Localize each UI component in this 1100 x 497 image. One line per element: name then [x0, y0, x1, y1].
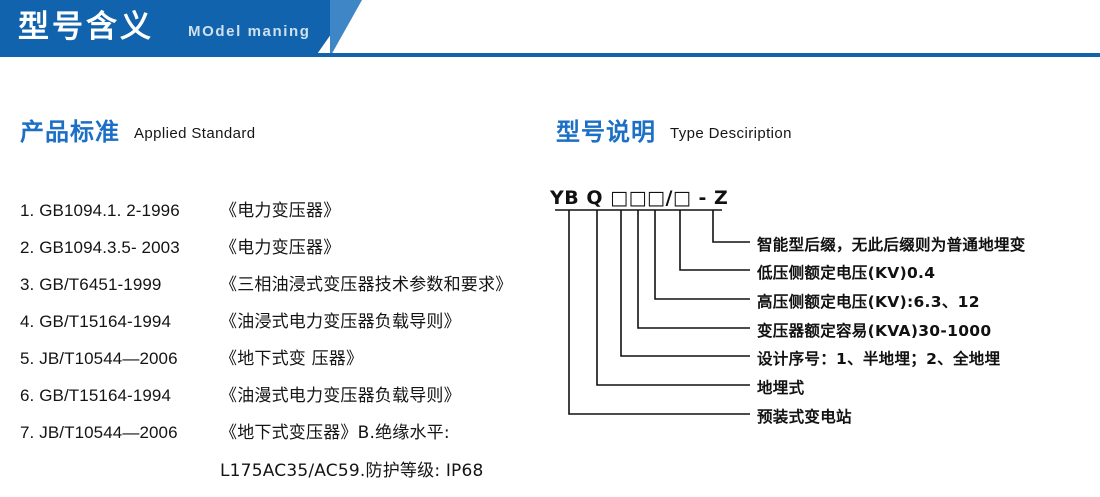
standard-name-continued: L175AC35/AC59.防护等级: IP68 [220, 461, 484, 481]
standard-index: 4. [20, 312, 34, 331]
standard-name: 《地下式变 压器》 [220, 349, 363, 369]
standard-index: 7. [20, 423, 34, 442]
standard-code: 2. GB1094.3.5- 2003 [20, 229, 220, 266]
standard-code: 7. JB/T10544—2006 [20, 414, 220, 451]
standard-list-item: 5. JB/T10544—2006《地下式变 压器》 [20, 340, 550, 377]
type-description-suffix: 智能型后缀，无此后缀则为普通地埋变 [757, 233, 1026, 255]
standard-list-item: 2. GB1094.3.5- 2003《电力变压器》 [20, 229, 550, 266]
standard-code: 5. JB/T10544—2006 [20, 340, 220, 377]
standard-code-text: GB/T15164-1994 [39, 386, 171, 405]
page-header-banner: 型号含义 MOdel maning [0, 0, 1100, 57]
standard-name: 《电力变压器》 [220, 201, 340, 221]
standard-name: 《油浸式电力变压器负载导则》 [220, 312, 461, 332]
section-heading-standard-en: Applied Standard [134, 125, 256, 142]
standard-code: 6. GB/T15164-1994 [20, 377, 220, 414]
standard-code: 3. GB/T6451-1999 [20, 266, 220, 303]
applied-standards-list: 1. GB1094.1. 2-1996《电力变压器》 2. GB1094.3.5… [20, 192, 550, 491]
standard-code: 4. GB/T15164-1994 [20, 303, 220, 340]
section-heading-type-en: Type Desciription [670, 125, 792, 142]
header-underline-rule [0, 53, 1100, 57]
standard-name: 《三相油浸式变压器技术参数和要求》 [220, 275, 512, 295]
type-designation-diagram: YB Q □□□/□ - Z 智能型后缀，无此后缀则为普通地埋变 低压侧额定电压… [550, 186, 1100, 446]
type-description-buried-type: 地埋式 [757, 376, 804, 398]
type-description-design-serial: 设计序号：1、半地埋；2、全地埋 [757, 347, 1000, 369]
header-slant-light [330, 0, 362, 57]
standard-code-text: JB/T10544—2006 [39, 423, 177, 442]
standard-list-item-continuation: L175AC35/AC59.防护等级: IP68 [20, 451, 550, 491]
section-heading-applied-standard: 产品标准Applied Standard [20, 112, 256, 147]
standard-list-item: 1. GB1094.1. 2-1996《电力变压器》 [20, 192, 550, 229]
standard-code-text: GB/T15164-1994 [39, 312, 171, 331]
standard-name: 《地下式变压器》B.绝缘水平: [220, 423, 450, 443]
standard-code-text: GB1094.3.5- 2003 [39, 238, 180, 257]
standard-index: 3. [20, 275, 34, 294]
section-heading-type-cn: 型号说明 [556, 118, 656, 146]
standard-code-text: GB/T6451-1999 [39, 275, 161, 294]
standard-code-text: GB1094.1. 2-1996 [39, 201, 180, 220]
section-heading-standard-cn: 产品标准 [20, 118, 120, 146]
standard-index: 2. [20, 238, 34, 257]
standard-list-item: 6. GB/T15164-1994《油漫式电力变压器负载导则》 [20, 377, 550, 414]
header-title-cn: 型号含义 [18, 8, 154, 47]
standard-list-item: 3. GB/T6451-1999《三相油浸式变压器技术参数和要求》 [20, 266, 550, 303]
standard-code-text: JB/T10544—2006 [39, 349, 177, 368]
standard-index: 1. [20, 201, 34, 220]
standard-name: 《油漫式电力变压器负载导则》 [220, 386, 461, 406]
type-description-labels: 智能型后缀，无此后缀则为普通地埋变 低压侧额定电压(KV)0.4 高压侧额定电压… [550, 186, 1100, 446]
header-title-en: MOdel maning [188, 22, 311, 42]
standard-name: 《电力变压器》 [220, 238, 340, 258]
type-description-hv-voltage: 高压侧额定电压(KV):6.3、12 [757, 290, 980, 312]
type-description-substation: 预装式变电站 [757, 405, 852, 427]
standard-list-item: 4. GB/T15164-1994《油浸式电力变压器负载导则》 [20, 303, 550, 340]
section-heading-type-description: 型号说明Type Desciription [556, 112, 792, 147]
type-description-lv-voltage: 低压侧额定电压(KV)0.4 [757, 261, 935, 283]
type-description-capacity: 变压器额定容易(KVA)30-1000 [757, 319, 991, 341]
standard-index: 6. [20, 386, 34, 405]
standard-code: 1. GB1094.1. 2-1996 [20, 192, 220, 229]
standard-list-item: 7. JB/T10544—2006《地下式变压器》B.绝缘水平: [20, 414, 550, 451]
standard-index: 5. [20, 349, 34, 368]
